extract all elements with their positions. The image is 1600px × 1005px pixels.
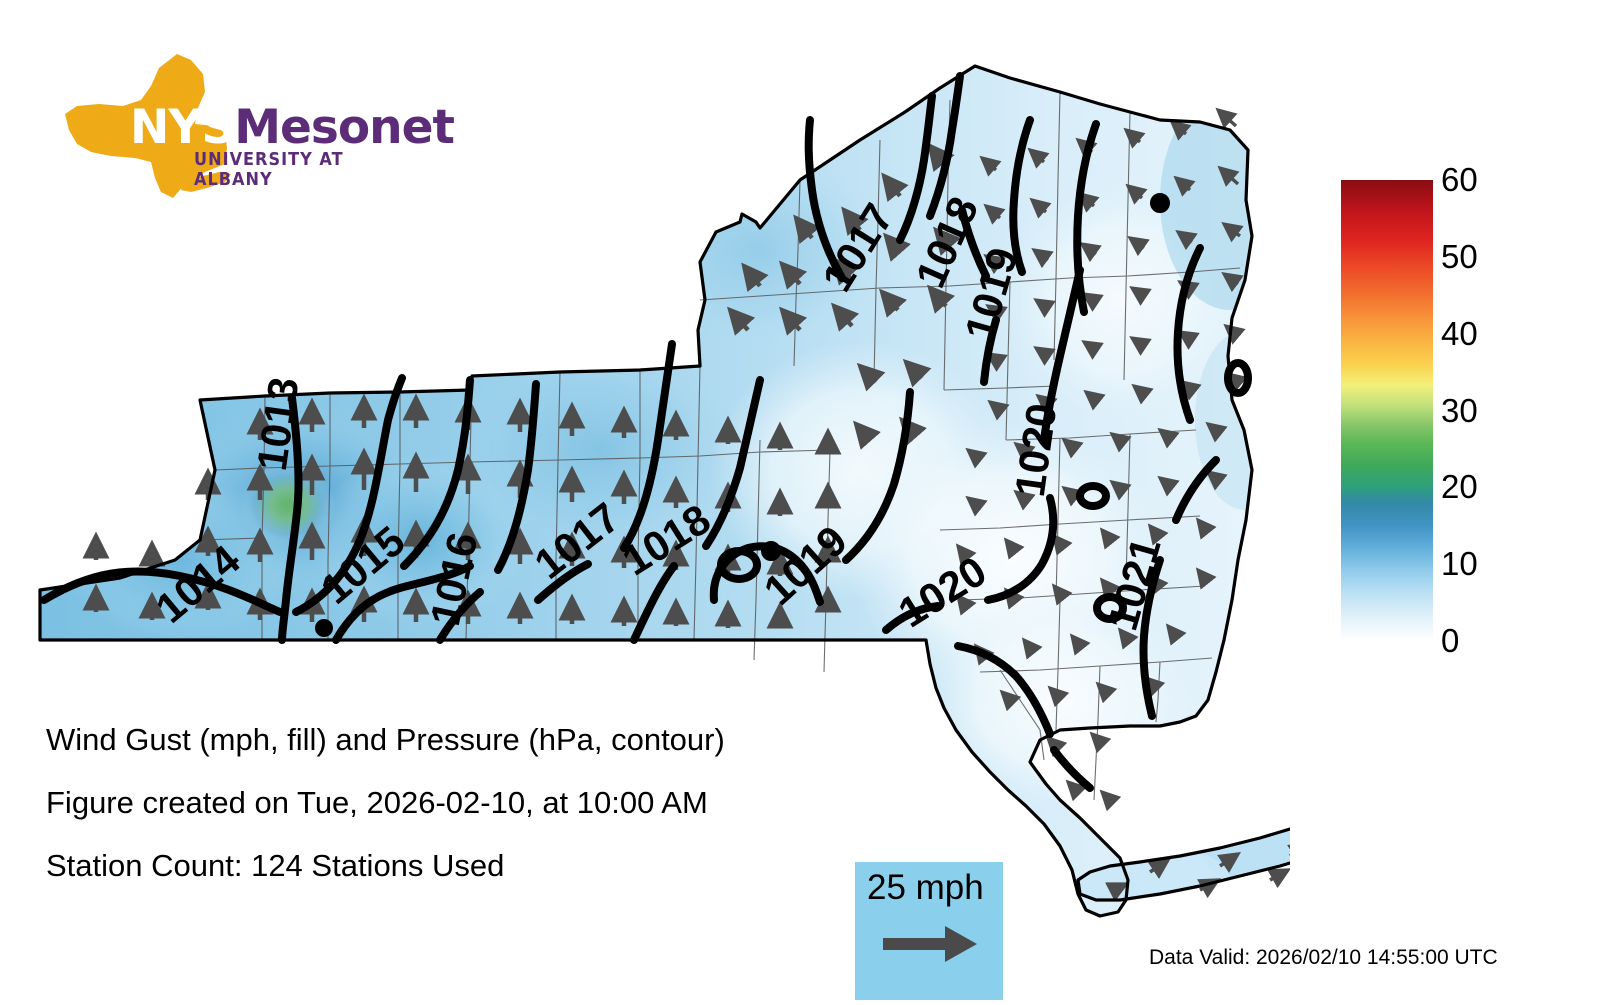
colorbar: 60 50 40 30 20 10 0 bbox=[1341, 180, 1433, 641]
station-count-line: Station Count: 124 Stations Used bbox=[46, 848, 504, 884]
colorbar-gradient bbox=[1341, 180, 1433, 641]
colorbar-tick-30: 30 bbox=[1441, 392, 1478, 430]
data-valid-line: Data Valid: 2026/02/10 14:55:00 UTC bbox=[1149, 946, 1498, 970]
wind-vector-key: 25 mph bbox=[855, 862, 1003, 1000]
wind-key-arrow-icon bbox=[883, 924, 979, 964]
logo-mesonet-text: Mesonet bbox=[234, 100, 454, 155]
colorbar-tick-10: 10 bbox=[1441, 545, 1478, 583]
figure-created-line: Figure created on Tue, 2026-02-10, at 10… bbox=[46, 785, 708, 821]
colorbar-tick-40: 40 bbox=[1441, 315, 1478, 353]
colorbar-tick-0: 0 bbox=[1441, 622, 1459, 660]
logo-wordmark: NYSMesonet bbox=[130, 100, 454, 155]
plot-title-line: Wind Gust (mph, fill) and Pressure (hPa,… bbox=[46, 722, 725, 758]
logo-nys-text: NYS bbox=[130, 100, 234, 155]
wind-key-label: 25 mph bbox=[867, 868, 984, 908]
colorbar-tick-50: 50 bbox=[1441, 238, 1478, 276]
colorbar-tick-20: 20 bbox=[1441, 468, 1478, 506]
colorbar-tick-60: 60 bbox=[1441, 161, 1478, 199]
logo-subtitle: UNIVERSITY AT ALBANY bbox=[194, 150, 379, 190]
nys-mesonet-logo: NYSMesonet UNIVERSITY AT ALBANY bbox=[55, 52, 395, 202]
